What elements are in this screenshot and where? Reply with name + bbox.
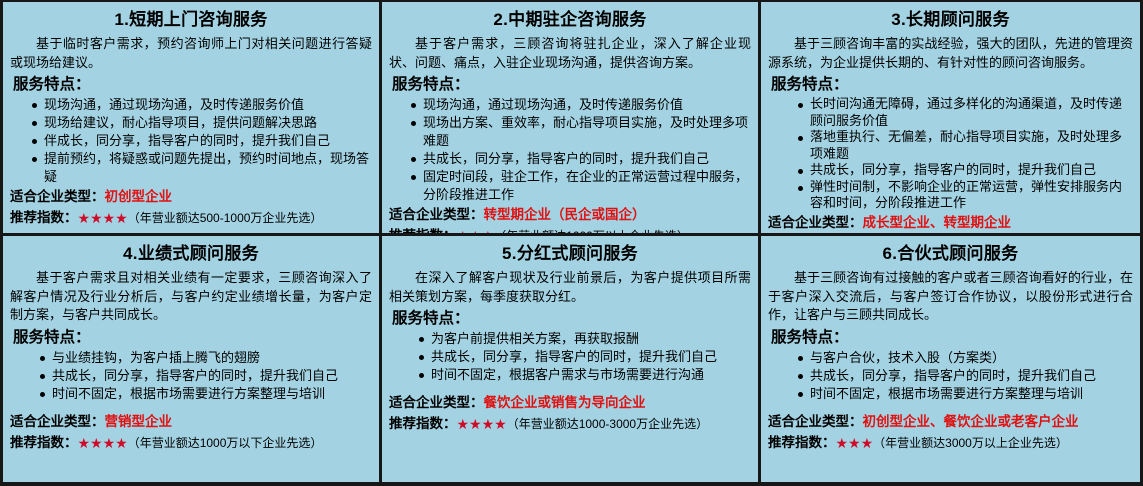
suitable-line: 适合企业类型：营销型企业 <box>10 412 372 432</box>
feature-item: 落地重执行、无偏差，耐心指导项目实施，及时处理多项难题 <box>798 129 1133 162</box>
service-card-2: 2.中期驻企咨询服务 基于客户需求，三顾咨询将驻扎企业，深入了解企业现状、问题、… <box>382 2 761 236</box>
service-cards-grid: 1.短期上门咨询服务 基于临时客户需求，预约咨询师上门对相关问题进行答疑或现场给… <box>0 0 1143 486</box>
card-title: 4.业绩式顾问服务 <box>10 242 372 266</box>
service-card-4: 4.业绩式顾问服务 基于客户需求且对相关业绩有一定要求，三顾咨询深入了解客户情况… <box>3 236 382 482</box>
feature-item: 与业绩挂钩，为客户插上腾飞的翅膀 <box>40 349 372 367</box>
feature-item: 现场给建议，耐心指导项目，提供问题解决思路 <box>32 114 372 132</box>
suitable-value: 初创型企业 <box>105 189 173 204</box>
suitable-line: 适合企业类型：餐饮企业或销售为导向企业 <box>389 393 751 413</box>
feature-item: 为客户前提供相关方案，再获取报酬 <box>419 330 751 348</box>
star-rating-icon: ★★★ <box>836 435 874 451</box>
suitable-label: 适合企业类型： <box>10 414 105 429</box>
star-rating-icon: ★★★ <box>457 228 495 236</box>
feature-item: 伴成长，同分享，指导客户的同时，提升我们自己 <box>32 132 372 150</box>
suitable-line: 适合企业类型：初创型企业、餐饮企业或老客户企业 <box>768 412 1133 432</box>
rating-label: 推荐指数： <box>10 210 78 225</box>
service-card-6: 6.合伙式顾问服务 基于三顾咨询有过接触的客户或者三顾咨询看好的行业，在于客户深… <box>761 236 1140 482</box>
rating-note: （年营业额达1000万以下企业先选） <box>128 436 323 450</box>
features-list: 现场沟通，通过现场沟通，及时传递服务价值 现场给建议，耐心指导项目，提供问题解决… <box>10 96 372 186</box>
suitable-value: 营销型企业 <box>105 414 173 429</box>
rating-label: 推荐指数： <box>10 435 78 450</box>
suitable-label: 适合企业类型： <box>389 207 484 222</box>
rating-note: （年营业额达1000万以上企业先选） <box>494 229 689 236</box>
feature-item: 共成长，同分享，指导客户的同时，提升我们自己 <box>419 348 751 366</box>
suitable-line: 适合企业类型：转型期企业（民企或国企） <box>389 205 751 225</box>
rating-note: （年营业额达3000万以上企业先选） <box>873 436 1068 450</box>
rating-line: 推荐指数：★★★★（年营业额达500-1000万企业先选） <box>10 208 372 228</box>
rating-label: 推荐指数： <box>768 435 836 450</box>
rating-line: 推荐指数：★★★（年营业额达1000万以上企业先选） <box>389 226 751 236</box>
feature-item: 共成长，同分享，指导客户的同时，提升我们自己 <box>411 150 751 168</box>
features-list: 现场沟通，通过现场沟通，及时传递服务价值 现场出方案、重效率，耐心指导项目实施，… <box>389 96 751 204</box>
card-intro: 基于三顾咨询有过接触的客户或者三顾咨询看好的行业，在于客户深入交流后，与客户签订… <box>768 269 1133 325</box>
feature-item: 共成长，同分享，指导客户的同时，提升我们自己 <box>40 367 372 385</box>
feature-item: 时间不固定，根据客户需求与市场需要进行沟通 <box>419 366 751 384</box>
suitable-value: 初创型企业、餐饮企业或老客户企业 <box>863 414 1079 429</box>
features-list: 长时间沟通无障碍，通过多样化的沟通渠道，及时传递顾问服务价值 落地重执行、无偏差… <box>768 96 1133 212</box>
suitable-value: 转型期企业（民企或国企） <box>484 207 646 222</box>
features-heading: 服务特点： <box>392 308 751 329</box>
card-intro: 基于三顾咨询丰富的实战经验，强大的团队，先进的管理资源系统，为企业提供长期的、有… <box>768 35 1133 72</box>
card-title: 5.分红式顾问服务 <box>389 242 751 266</box>
feature-item: 现场沟通，通过现场沟通，及时传递服务价值 <box>411 96 751 114</box>
card-intro: 基于客户需求，三顾咨询将驻扎企业，深入了解企业现状、问题、痛点，入驻企业现场沟通… <box>389 35 751 72</box>
feature-item: 现场出方案、重效率，耐心指导项目实施，及时处理多项难题 <box>411 114 751 150</box>
star-rating-icon: ★★★★ <box>457 416 507 432</box>
rating-label: 推荐指数： <box>389 416 457 431</box>
feature-item: 时间不固定，根据市场需要进行方案整理与培训 <box>40 385 372 403</box>
feature-item: 提前预约，将疑惑或问题先提出，预约时间地点，现场答疑 <box>32 150 372 186</box>
card-title: 2.中期驻企咨询服务 <box>389 8 751 32</box>
rating-line: 推荐指数：★★★★（年营业额达1000万以下企业先选） <box>10 433 372 453</box>
service-card-3: 3.长期顾问服务 基于三顾咨询丰富的实战经验，强大的团队，先进的管理资源系统，为… <box>761 2 1140 236</box>
features-list: 为客户前提供相关方案，再获取报酬 共成长，同分享，指导客户的同时，提升我们自己 … <box>389 330 751 384</box>
service-card-5: 5.分红式顾问服务 在深入了解客户现状及行业前景后，为客户提供项目所需相关策划方… <box>382 236 761 482</box>
feature-item: 与客户合伙，技术入股（方案类） <box>798 349 1133 367</box>
features-heading: 服务特点： <box>771 74 1133 95</box>
card-title: 6.合伙式顾问服务 <box>768 242 1133 266</box>
card-intro: 在深入了解客户现状及行业前景后，为客户提供项目所需相关策划方案，每季度获取分红。 <box>389 269 751 306</box>
suitable-label: 适合企业类型： <box>10 189 105 204</box>
suitable-line: 适合企业类型：成长型企业、转型期企业 <box>768 213 1133 233</box>
rating-note: （年营业额达1000-3000万企业先选） <box>507 417 708 431</box>
features-heading: 服务特点： <box>771 327 1133 348</box>
feature-item: 时间不固定，根据市场需要进行方案整理与培训 <box>798 385 1133 403</box>
feature-item: 长时间沟通无障碍，通过多样化的沟通渠道，及时传递顾问服务价值 <box>798 96 1133 129</box>
feature-item: 弹性时间制，不影响企业的正常运营，弹性安排服务内容和时间，分阶段推进工作 <box>798 179 1133 212</box>
features-heading: 服务特点： <box>13 327 372 348</box>
suitable-value: 成长型企业、转型期企业 <box>863 215 1012 230</box>
service-card-1: 1.短期上门咨询服务 基于临时客户需求，预约咨询师上门对相关问题进行答疑或现场给… <box>3 2 382 236</box>
features-list: 与业绩挂钩，为客户插上腾飞的翅膀 共成长，同分享，指导客户的同时，提升我们自己 … <box>10 349 372 403</box>
card-intro: 基于临时客户需求，预约咨询师上门对相关问题进行答疑或现场给建议。 <box>10 35 372 72</box>
feature-item: 现场沟通，通过现场沟通，及时传递服务价值 <box>32 96 372 114</box>
card-title: 3.长期顾问服务 <box>768 8 1133 32</box>
suitable-value: 餐饮企业或销售为导向企业 <box>484 395 646 410</box>
rating-label: 推荐指数： <box>389 228 457 236</box>
feature-item: 共成长，同分享，指导客户的同时，提升我们自己 <box>798 162 1133 179</box>
rating-note: （年营业额达500-1000万企业先选） <box>128 211 323 225</box>
features-list: 与客户合伙，技术入股（方案类） 共成长，同分享，指导客户的同时，提升我们自己 时… <box>768 349 1133 403</box>
feature-item: 共成长，同分享，指导客户的同时，提升我们自己 <box>798 367 1133 385</box>
features-heading: 服务特点： <box>392 74 751 95</box>
suitable-line: 适合企业类型：初创型企业 <box>10 187 372 207</box>
rating-line: 推荐指数：★★★（年营业额达3000万以上企业先选） <box>768 433 1133 453</box>
card-title: 1.短期上门咨询服务 <box>10 8 372 32</box>
features-heading: 服务特点： <box>13 74 372 95</box>
star-rating-icon: ★★★★ <box>78 210 128 226</box>
star-rating-icon: ★★★★ <box>78 435 128 451</box>
suitable-label: 适合企业类型： <box>768 215 863 230</box>
suitable-label: 适合企业类型： <box>768 414 863 429</box>
feature-item: 固定时间段，驻企工作，在企业的正常运营过程中服务，分阶段推进工作 <box>411 168 751 204</box>
rating-line: 推荐指数：★★★★（年营业额达1000-3000万企业先选） <box>389 414 751 434</box>
card-intro: 基于客户需求且对相关业绩有一定要求，三顾咨询深入了解客户情况及行业分析后，与客户… <box>10 269 372 325</box>
suitable-label: 适合企业类型： <box>389 395 484 410</box>
